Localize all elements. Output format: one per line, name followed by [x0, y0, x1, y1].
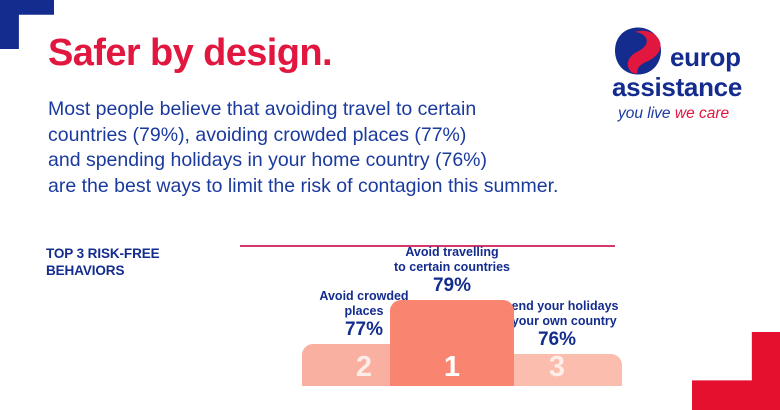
logo-wordmark-line-1: europ — [670, 44, 741, 70]
podium-label-rank-1: Avoid travelling to certain countries — [390, 245, 514, 274]
podium-column-rank-1: Avoid travelling to certain countries 79… — [390, 245, 514, 386]
top-left-corner-bracket — [0, 0, 54, 49]
infographic-canvas: Safer by design. Most people believe tha… — [0, 0, 780, 410]
logo-tagline-red: we care — [675, 105, 729, 122]
headline: Safer by design. — [48, 34, 332, 72]
podium-chart: Avoid crowded places 77% 2 Avoid travell… — [240, 252, 640, 386]
podium-block-rank-1: 1 — [390, 300, 514, 386]
europ-assistance-logo-mark-icon — [612, 26, 664, 76]
logo-wordmark-line-2: assistance — [612, 74, 742, 100]
brand-logo: europ assistance you live we care — [612, 26, 756, 134]
podium-rank-number-1: 1 — [390, 353, 514, 382]
bottom-right-corner-bracket — [692, 332, 780, 410]
logo-tagline: you live we care — [618, 106, 729, 122]
chart-section-label: TOP 3 RISK-FREE BEHAVIORS — [46, 245, 226, 279]
body-paragraph: Most people believe that avoiding travel… — [48, 97, 648, 199]
podium-value-rank-1: 79% — [390, 275, 514, 297]
logo-tagline-blue: you live — [618, 105, 671, 122]
